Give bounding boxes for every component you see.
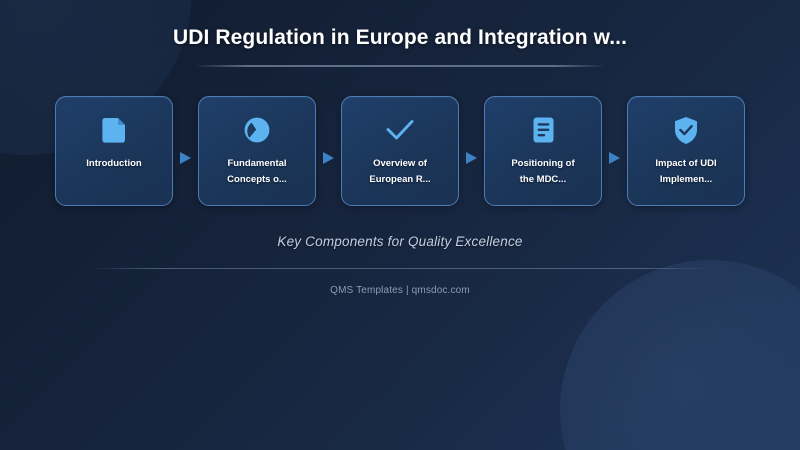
- arrow-right-icon: [609, 152, 620, 164]
- arrow-right-icon: [323, 152, 334, 164]
- slide-subtitle: Key Components for Quality Excellence: [0, 234, 800, 249]
- process-card-4[interactable]: Positioning of the MDC...: [484, 96, 602, 206]
- arrow-right-icon: [180, 152, 191, 164]
- arrow-right-icon: [466, 152, 477, 164]
- shield-check-icon: [671, 115, 701, 145]
- process-card-label: Overview of European R...: [361, 156, 438, 188]
- process-card-label: Introduction: [78, 156, 149, 172]
- slide-title: UDI Regulation in Europe and Integration…: [0, 26, 800, 50]
- process-card-3[interactable]: Overview of European R...: [341, 96, 459, 206]
- title-divider: [197, 65, 603, 67]
- footer-divider: [95, 268, 705, 269]
- process-card-label: Fundamental Concepts o...: [219, 156, 295, 188]
- footer-section: QMS Templates | qmsdoc.com: [0, 285, 800, 296]
- presentation-slide: UDI Regulation in Europe and Integration…: [0, 0, 800, 450]
- process-card-label-line2: Concepts o...: [227, 172, 287, 188]
- title-section: UDI Regulation in Europe and Integration…: [0, 26, 800, 67]
- process-card-label-line1: Impact of UDI: [655, 156, 716, 172]
- process-card-label-line2: European R...: [369, 172, 430, 188]
- process-card-label-line1: Overview of: [369, 156, 430, 172]
- process-card-label: Impact of UDI Implemen...: [647, 156, 724, 188]
- list-document-icon: [528, 115, 558, 145]
- process-card-5[interactable]: Impact of UDI Implemen...: [627, 96, 745, 206]
- connector-1: [173, 96, 198, 206]
- subtitle-section: Key Components for Quality Excellence: [0, 234, 800, 249]
- process-step-row: Introduction Fundamental Concepts o...: [55, 96, 745, 206]
- check-icon: [385, 115, 415, 145]
- process-card-label-line2: the MDC...: [511, 172, 574, 188]
- process-card-1[interactable]: Introduction: [55, 96, 173, 206]
- connector-3: [459, 96, 484, 206]
- pie-chart-icon: [242, 115, 272, 145]
- connector-4: [602, 96, 627, 206]
- footer-attribution: QMS Templates | qmsdoc.com: [0, 285, 800, 296]
- process-card-2[interactable]: Fundamental Concepts o...: [198, 96, 316, 206]
- process-card-label-line1: Introduction: [86, 156, 141, 172]
- document-icon: [99, 115, 129, 145]
- process-card-label: Positioning of the MDC...: [503, 156, 582, 188]
- process-card-label-line1: Positioning of: [511, 156, 574, 172]
- process-card-label-line1: Fundamental: [227, 156, 287, 172]
- connector-2: [316, 96, 341, 206]
- process-card-label-line2: Implemen...: [655, 172, 716, 188]
